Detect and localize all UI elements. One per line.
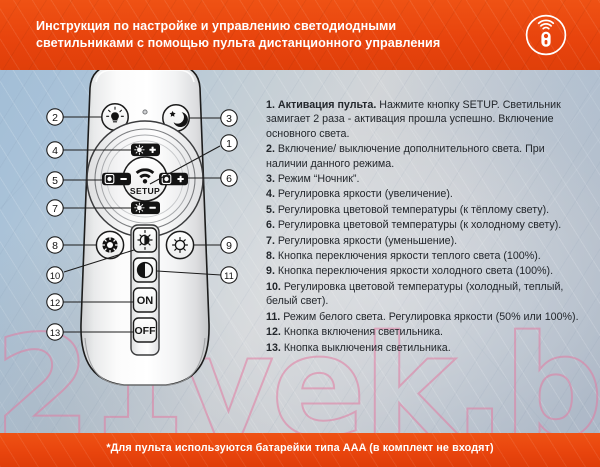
sun-filled-icon — [102, 237, 117, 252]
svg-text:11: 11 — [224, 271, 234, 281]
callout-1[interactable]: 1 — [221, 135, 237, 151]
svg-text:9: 9 — [226, 240, 232, 252]
instruction-number: 13. — [266, 342, 281, 354]
warm-temp-button[interactable] — [102, 173, 131, 186]
battery-note: *Для пульта используются батарейки типа … — [0, 442, 600, 454]
instruction-item: 10. Регулировка цветовой температуры (хо… — [266, 280, 588, 309]
ir-led-indicator — [143, 110, 147, 114]
instruction-text: Регулировка яркости (увеличение). — [275, 188, 453, 200]
page-title-line-2: светильниками с помощью пульта дистанцио… — [36, 35, 496, 52]
instruction-item: 11. Режим белого света. Регулировка ярко… — [266, 310, 588, 324]
instruction-number: 4. — [266, 188, 275, 200]
instruction-number: 8. — [266, 250, 275, 262]
instruction-item: 2. Включение/ выключение дополнительного… — [266, 142, 588, 171]
instruction-text: Регулировка цветовой температуры (холодн… — [266, 281, 563, 307]
callout-3[interactable]: 3 — [221, 110, 237, 126]
callout-11[interactable]: 11 — [221, 267, 237, 283]
svg-text:4: 4 — [52, 145, 58, 157]
callout-6[interactable]: 6 — [221, 170, 237, 186]
instruction-text: Режим “Ночник”. — [275, 173, 360, 185]
instruction-item: 8. Кнопка переключения яркости теплого с… — [266, 249, 588, 263]
instruction-number: 7. — [266, 235, 275, 247]
instruction-number: 12. — [266, 326, 281, 338]
callout-2[interactable]: 2 — [47, 109, 63, 125]
on-label: ON — [137, 295, 154, 307]
callout-5[interactable]: 5 — [47, 172, 63, 188]
callout-12[interactable]: 12 — [47, 294, 63, 310]
instruction-item: 4. Регулировка яркости (увеличение). — [266, 187, 588, 201]
instruction-text: Регулировка яркости (уменьшение). — [275, 235, 457, 247]
instruction-item: 1. Активация пульта. Нажмите кнопку SETU… — [266, 98, 588, 141]
instruction-number: 11. — [266, 311, 280, 323]
instruction-number: 9. — [266, 265, 275, 277]
infographic-stage: 21vek.by — [0, 0, 600, 467]
svg-text:13: 13 — [50, 328, 60, 338]
instruction-text: Кнопка переключения яркости теплого свет… — [275, 250, 541, 262]
instruction-item: 9. Кнопка переключения яркости холодного… — [266, 264, 588, 278]
instruction-item: 6. Регулировка цветовой температуры (к х… — [266, 218, 588, 232]
instruction-number: 6. — [266, 219, 275, 231]
remote-control-signal-icon — [525, 14, 567, 56]
callout-10[interactable]: 10 — [47, 267, 63, 283]
power-off-button[interactable]: OFF — [134, 318, 157, 342]
remote-control-diagram: SETUP — [0, 62, 268, 412]
svg-text:5: 5 — [52, 175, 58, 187]
instruction-text: Регулировка цветовой температуры (к тёпл… — [275, 204, 549, 216]
instruction-text: Включение/ выключение дополнительного св… — [266, 143, 545, 169]
footer-banner: *Для пульта используются батарейки типа … — [0, 433, 600, 467]
instruction-lead: Активация пульта. — [275, 99, 376, 111]
instruction-text: Кнопка переключения яркости холодного св… — [275, 265, 553, 277]
svg-text:10: 10 — [50, 271, 60, 281]
header-banner: Инструкция по настройке и управлению све… — [0, 0, 600, 70]
white-mode-button[interactable] — [134, 258, 157, 282]
instruction-item: 5. Регулировка цветовой температуры (к т… — [266, 203, 588, 217]
cool-temp-button[interactable] — [159, 173, 188, 186]
instruction-item: 7. Регулировка яркости (уменьшение). — [266, 234, 588, 248]
cool-100-button[interactable] — [166, 231, 193, 258]
instruction-text: Кнопка выключения светильника. — [281, 342, 451, 354]
instructions-list: 1. Активация пульта. Нажмите кнопку SETU… — [266, 98, 588, 356]
svg-text:1: 1 — [226, 138, 232, 150]
instruction-text: Кнопка включения светильника. — [281, 326, 443, 338]
instruction-number: 5. — [266, 204, 275, 216]
instruction-number: 2. — [266, 143, 275, 155]
setup-label: SETUP — [130, 186, 160, 196]
color-temp-cycle-button[interactable] — [134, 228, 157, 252]
callout-13[interactable]: 13 — [47, 324, 63, 340]
instruction-item: 13. Кнопка выключения светильника. — [266, 341, 588, 355]
page-title: Инструкция по настройке и управлению све… — [36, 18, 496, 52]
instruction-text: Режим белого света. Регулировка яркости … — [280, 311, 578, 323]
instruction-item: 3. Режим “Ночник”. — [266, 172, 588, 186]
callout-4[interactable]: 4 — [47, 142, 63, 158]
instruction-text: Регулировка цветовой температуры (к холо… — [275, 219, 561, 231]
callout-8[interactable]: 8 — [47, 237, 63, 253]
svg-text:6: 6 — [226, 173, 232, 185]
brightness-up-button[interactable] — [131, 144, 160, 157]
svg-text:12: 12 — [50, 298, 60, 308]
callout-7[interactable]: 7 — [47, 200, 63, 216]
svg-text:3: 3 — [226, 113, 232, 125]
brightness-down-button[interactable] — [131, 202, 160, 215]
instruction-number: 1. — [266, 99, 275, 111]
svg-text:8: 8 — [52, 240, 58, 252]
off-label: OFF — [135, 325, 157, 337]
svg-text:7: 7 — [52, 203, 58, 215]
callout-9[interactable]: 9 — [221, 237, 237, 253]
power-on-button[interactable]: ON — [134, 288, 157, 312]
instruction-item: 12. Кнопка включения светильника. — [266, 325, 588, 339]
page-title-line-1: Инструкция по настройке и управлению све… — [36, 18, 496, 35]
svg-text:2: 2 — [52, 112, 58, 124]
instruction-number: 3. — [266, 173, 275, 185]
instruction-number: 10. — [266, 281, 281, 293]
